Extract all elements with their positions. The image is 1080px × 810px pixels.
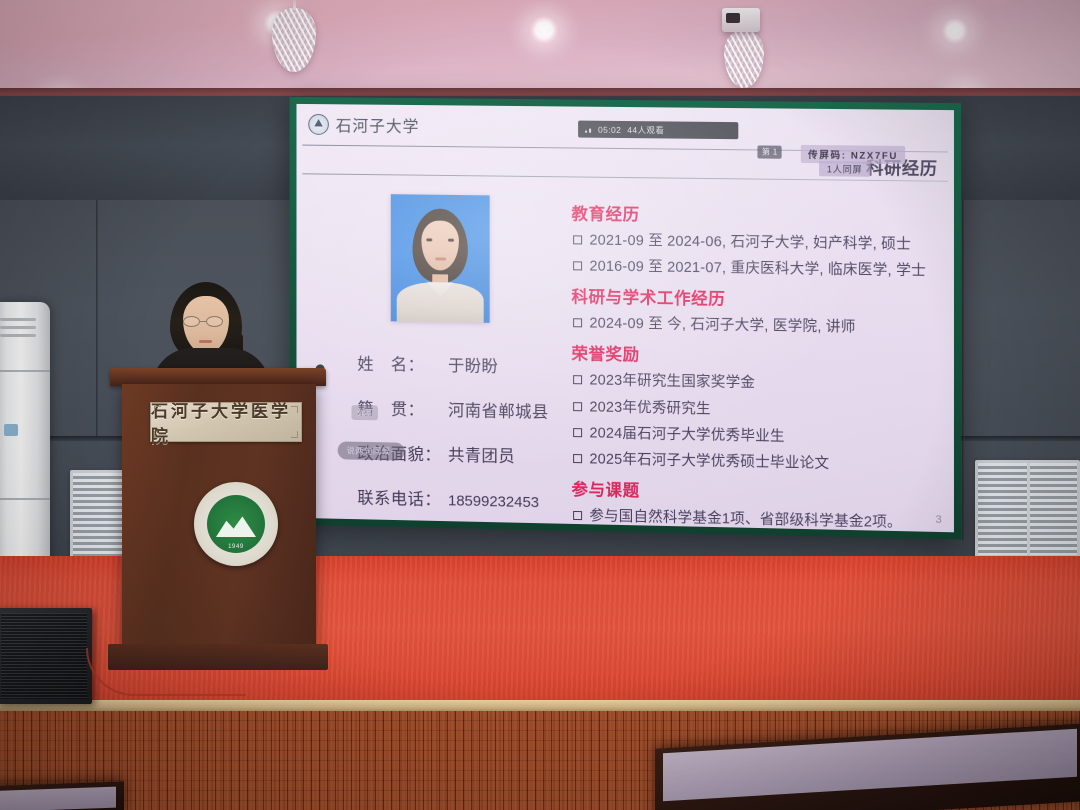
profile-field-hometown: 籍 贯： 河南省郸城县 bbox=[357, 395, 569, 423]
section-heading-honors: 荣誉奖励 bbox=[571, 341, 943, 371]
plaque-corner bbox=[154, 406, 161, 413]
slide-left-column: 姓 名： 于盼盼 籍 贯： 河南省郸城县 政治面貌： 共青团员 联系电话： bbox=[296, 181, 569, 524]
list-item-text: 2023年研究生国家奖学金 bbox=[589, 372, 755, 393]
checkbox-icon bbox=[573, 402, 582, 411]
list-item: 2025年石河子大学优秀硕士毕业论文 bbox=[573, 450, 943, 476]
podium: 石河子大学医学院 1949 bbox=[110, 368, 326, 668]
photo-mouth bbox=[435, 257, 446, 260]
presenter-glasses-bridge bbox=[200, 321, 206, 322]
signal-icon bbox=[585, 126, 592, 133]
downlight-7 bbox=[940, 18, 970, 44]
desk-surface bbox=[0, 787, 116, 810]
plaque-corner bbox=[291, 406, 298, 413]
slide-page-number: 3 bbox=[936, 514, 942, 526]
plaque-corner bbox=[154, 431, 161, 438]
checkbox-icon bbox=[573, 511, 582, 520]
profile-field-value: 18599232453 bbox=[448, 492, 539, 511]
cast-screen-badge: 第 1 bbox=[758, 145, 782, 158]
audience-desk-left bbox=[0, 781, 124, 810]
profile-field-label: 联系电话： bbox=[357, 484, 448, 510]
list-item-text: 2024-09 至 今, 石河子大学, 医学院, 讲师 bbox=[589, 315, 855, 337]
section-heading-education: 教育经历 bbox=[571, 200, 943, 229]
list-item-text: 2024届石河子大学优秀毕业生 bbox=[589, 424, 784, 446]
vent-divider bbox=[1027, 463, 1030, 555]
chat-input-hint[interactable]: 说两句问候~ bbox=[338, 441, 405, 460]
list-item-text: 2023年优秀研究生 bbox=[589, 398, 710, 418]
profile-field-value: 于盼盼 bbox=[448, 352, 498, 377]
list-item-text: 参与国自然科学基金1项、省部级科学基金2项。 bbox=[589, 507, 902, 532]
list-item: 2023年研究生国家奖学金 bbox=[573, 372, 943, 397]
profile-field-value: 河南省郸城县 bbox=[448, 397, 549, 423]
pendant-rod bbox=[293, 0, 296, 10]
photo-eye-left bbox=[426, 238, 432, 241]
emblem-inner-disc: 1949 bbox=[207, 495, 265, 553]
photo-eye-right bbox=[448, 239, 454, 242]
slide-right-column: 教育经历 2021-09 至 2024-06, 石河子大学, 妇产科学, 硕士 … bbox=[569, 184, 953, 532]
podium-plaque: 石河子大学医学院 bbox=[150, 402, 302, 442]
presenter-mouth bbox=[199, 340, 212, 343]
lecture-hall-scene: ⛰ 石河子大学 科研经历 bbox=[0, 0, 1080, 810]
presenter-glasses-right bbox=[206, 316, 223, 327]
university-logo-icon: ⛰ bbox=[308, 113, 329, 134]
list-item: 2024届石河子大学优秀毕业生 bbox=[573, 424, 943, 449]
section-heading-projects: 参与课题 bbox=[571, 476, 943, 508]
ac-slot-2 bbox=[0, 326, 36, 329]
profile-field-value: 共青团员 bbox=[448, 442, 515, 467]
cast-timer-bar[interactable]: 05:02 44人观看 bbox=[578, 121, 738, 140]
podium-plaque-text: 石河子大学医学院 bbox=[151, 397, 301, 447]
ac-slot-3 bbox=[0, 334, 36, 337]
ac-slot-1 bbox=[0, 318, 36, 321]
profile-field-phone: 联系电话： 18599232453 bbox=[357, 484, 569, 512]
section-heading-research: 科研与学术工作经历 bbox=[571, 284, 943, 314]
list-item: 2021-09 至 2024-06, 石河子大学, 妇产科学, 硕士 bbox=[573, 231, 943, 254]
checkbox-icon bbox=[573, 454, 582, 463]
list-item: 2016-09 至 2021-07, 重庆医科大学, 临床医学, 学士 bbox=[573, 257, 943, 280]
slide-header-org: 石河子大学 bbox=[336, 112, 420, 137]
ac-seam-bottom bbox=[0, 498, 50, 500]
projection-screen-frame: ⛰ 石河子大学 科研经历 bbox=[290, 97, 961, 540]
list-item-text: 2016-09 至 2021-07, 重庆医科大学, 临床医学, 学士 bbox=[589, 258, 926, 281]
wall-vertical-seam-left bbox=[96, 200, 99, 436]
list-item: 参与国自然科学基金1项、省部级科学基金2项。 bbox=[573, 507, 943, 532]
checkbox-icon bbox=[573, 318, 582, 327]
id-photo bbox=[391, 194, 490, 323]
profile-field-label: 姓 名： bbox=[357, 351, 448, 376]
danmaku-toggle[interactable]: 弹幕 bbox=[351, 405, 378, 420]
floor-speaker bbox=[0, 608, 92, 704]
list-item: 2024-09 至 今, 石河子大学, 医学院, 讲师 bbox=[573, 314, 943, 338]
presenter-glasses-left bbox=[183, 316, 200, 327]
university-logo-glyph: ⛰ bbox=[314, 118, 323, 129]
wall-vertical-seam-right bbox=[962, 200, 965, 540]
wall-vent-right bbox=[975, 460, 1080, 558]
profile-field-list: 姓 名： 于盼盼 籍 贯： 河南省郸城县 政治面貌： 共青团员 联系电话： bbox=[357, 351, 569, 513]
downlight-5 bbox=[528, 16, 560, 44]
projection-screen[interactable]: ⛰ 石河子大学 科研经历 bbox=[296, 104, 953, 532]
list-item-text: 2021-09 至 2024-06, 石河子大学, 妇产科学, 硕士 bbox=[589, 232, 911, 255]
checkbox-icon bbox=[573, 235, 582, 244]
checkbox-icon bbox=[573, 428, 582, 437]
profile-field-name: 姓 名： 于盼盼 bbox=[357, 351, 569, 379]
checkbox-icon bbox=[573, 261, 582, 270]
cast-timer-elapsed: 05:02 bbox=[598, 124, 621, 134]
list-item-text: 2025年石河子大学优秀硕士毕业论文 bbox=[589, 450, 829, 473]
ceiling-projector bbox=[722, 8, 760, 32]
cast-participant-label: 1人同屏 bbox=[819, 161, 871, 177]
podium-front-panel: 石河子大学医学院 1949 bbox=[122, 384, 316, 648]
emblem-year: 1949 bbox=[207, 544, 265, 550]
university-emblem: 1949 bbox=[194, 482, 278, 566]
podium-base bbox=[108, 644, 328, 670]
cast-viewer-count: 44人观看 bbox=[627, 124, 664, 136]
ac-indicator bbox=[4, 424, 18, 436]
slide-body: 姓 名： 于盼盼 籍 贯： 河南省郸城县 政治面貌： 共青团员 联系电话： bbox=[296, 181, 953, 532]
plaque-corner bbox=[291, 431, 298, 438]
ac-seam-top bbox=[0, 370, 50, 372]
emblem-mountain-icon bbox=[216, 515, 256, 537]
checkbox-icon bbox=[573, 376, 582, 385]
list-item: 2023年优秀研究生 bbox=[573, 398, 943, 423]
